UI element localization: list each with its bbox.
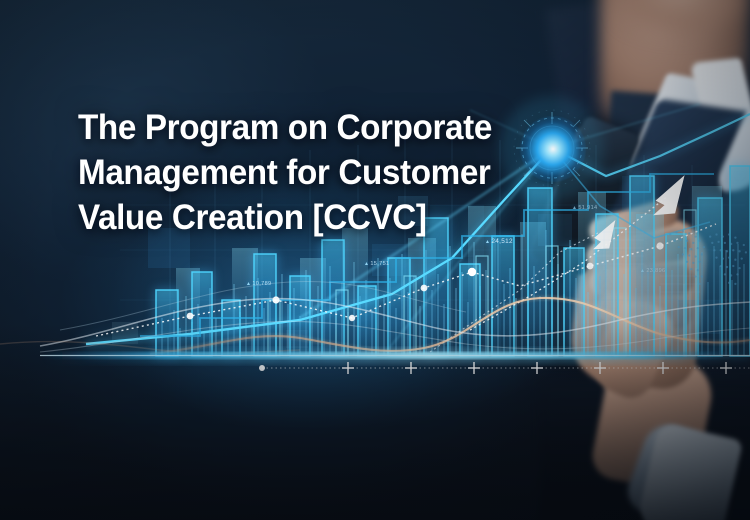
page-title: The Program on Corporate Management for …: [78, 105, 525, 240]
vignette-overlay: [0, 0, 750, 520]
banner-root: ▲10,789 ▲15,751 ▲24,512 ▲51,914 ▲23,896 …: [0, 0, 750, 520]
